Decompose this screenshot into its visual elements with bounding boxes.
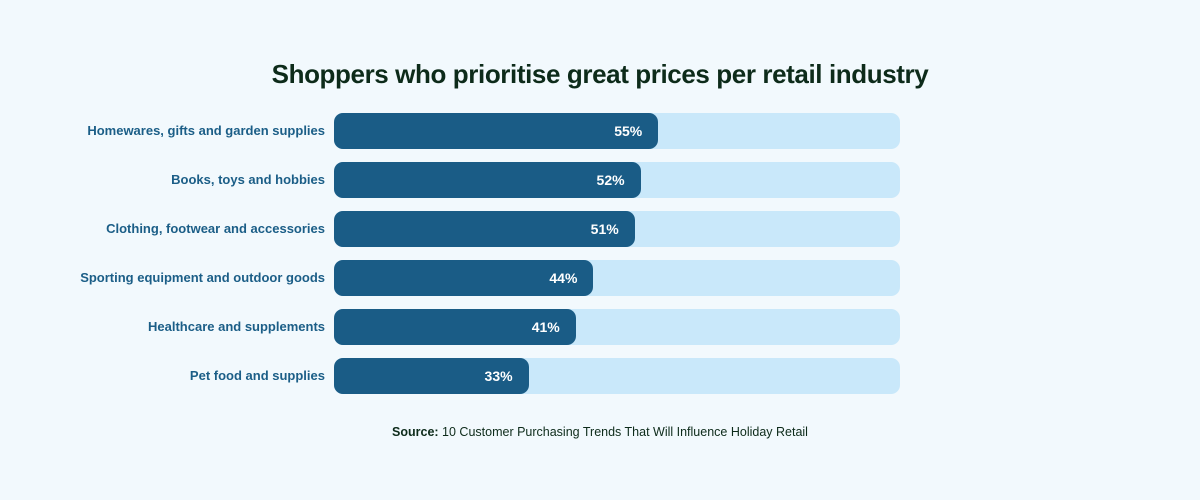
bar-row: Healthcare and supplements 41% [0,309,1200,345]
bar-category-label: Clothing, footwear and accessories [0,221,334,237]
source-label: Source: [392,425,439,439]
bar-track: 51% [334,211,900,247]
bar-fill[interactable]: 52% [334,162,641,198]
chart-title: Shoppers who prioritise great prices per… [0,58,1200,90]
bar-category-label: Homewares, gifts and garden supplies [0,123,334,139]
bar-row: Sporting equipment and outdoor goods 44% [0,260,1200,296]
bar-value-label: 55% [614,123,642,139]
bar-track: 44% [334,260,900,296]
bar-category-label: Books, toys and hobbies [0,172,334,188]
bar-value-label: 44% [549,270,577,286]
bar-value-label: 33% [485,368,513,384]
bar-chart-plot-area: Homewares, gifts and garden supplies 55%… [0,113,1200,407]
bar-value-label: 52% [597,172,625,188]
source-note: Source: 10 Customer Purchasing Trends Th… [0,424,1200,440]
bar-row: Clothing, footwear and accessories 51% [0,211,1200,247]
bar-category-label: Pet food and supplies [0,368,334,384]
bar-row: Books, toys and hobbies 52% [0,162,1200,198]
chart-container: Shoppers who prioritise great prices per… [0,0,1200,500]
bar-category-label: Sporting equipment and outdoor goods [0,270,334,286]
bar-value-label: 41% [532,319,560,335]
source-text: 10 Customer Purchasing Trends That Will … [442,425,808,439]
bar-category-label: Healthcare and supplements [0,319,334,335]
bar-value-label: 51% [591,221,619,237]
bar-fill[interactable]: 33% [334,358,529,394]
bar-fill[interactable]: 51% [334,211,635,247]
bar-track: 52% [334,162,900,198]
bar-row: Homewares, gifts and garden supplies 55% [0,113,1200,149]
bar-fill[interactable]: 41% [334,309,576,345]
bar-fill[interactable]: 55% [334,113,658,149]
bar-row: Pet food and supplies 33% [0,358,1200,394]
bar-track: 33% [334,358,900,394]
bar-track: 41% [334,309,900,345]
bar-track: 55% [334,113,900,149]
bar-fill[interactable]: 44% [334,260,593,296]
